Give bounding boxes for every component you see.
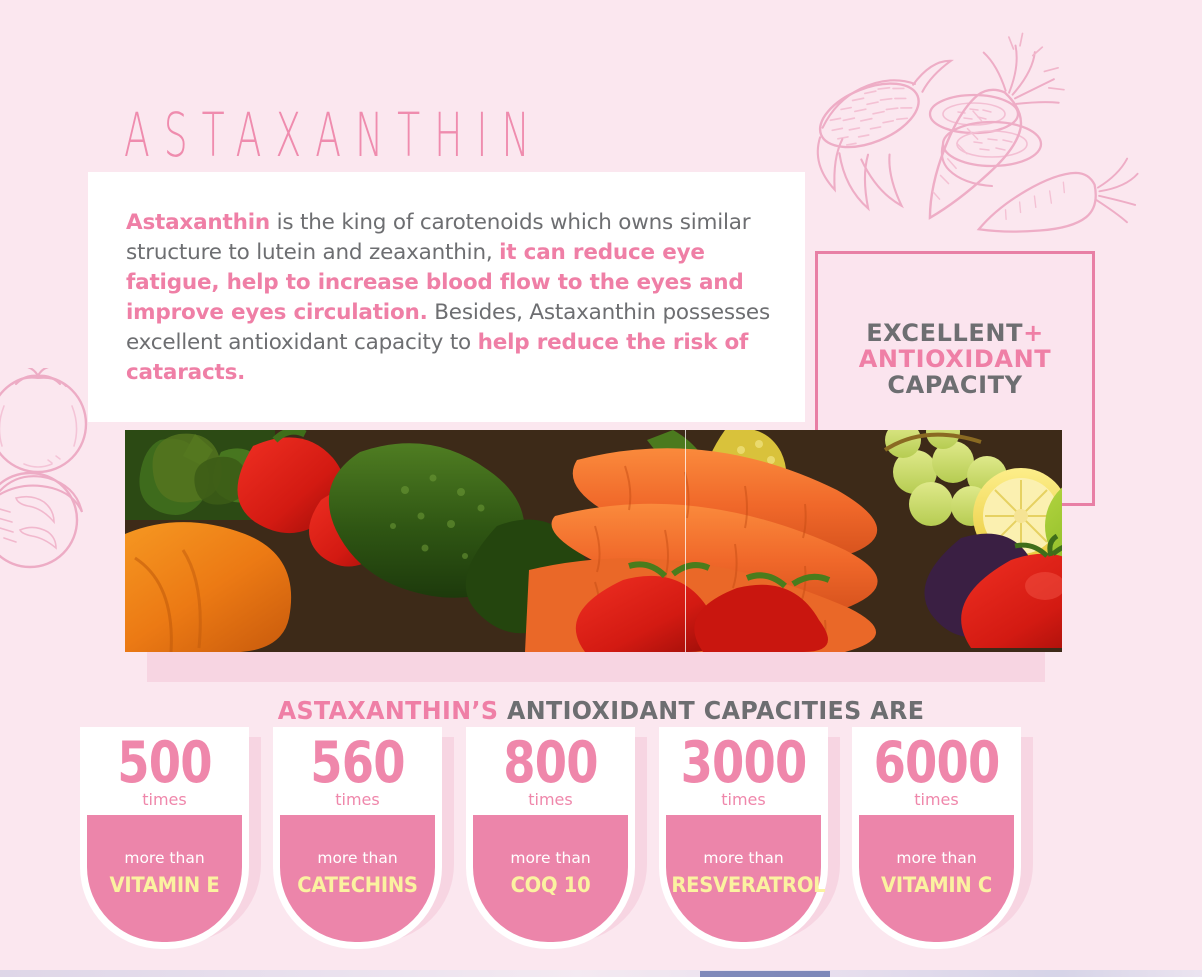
next-section-sliver-accent: [700, 971, 830, 977]
vegetables-photo: [125, 430, 1062, 652]
stat-card-label: RESVERATROL: [671, 873, 815, 897]
stat-card-top: 560 times: [273, 727, 442, 821]
corn-cucumber-carrot-line-art-icon: [778, 0, 1202, 282]
vegetables-photo-artwork: [125, 430, 1062, 652]
stat-card[interactable]: 800 times more than COQ 10: [466, 727, 635, 949]
infographic-page: Astaxanthin is the king of carotenoids w…: [0, 0, 1202, 977]
stat-card-number: 800: [478, 725, 623, 796]
stat-card[interactable]: 6000 times more than VITAMIN C: [852, 727, 1021, 949]
section-heading-pink: ASTAXANTHIN’S: [278, 696, 499, 725]
callout-capacity: CAPACITY: [818, 372, 1092, 398]
stat-card-number: 500: [92, 725, 237, 796]
stat-card[interactable]: 3000 times more than RESVERATROL: [659, 727, 828, 949]
stat-card-top: 500 times: [80, 727, 249, 821]
next-section-sliver: [0, 970, 1202, 977]
stat-card-more-than: more than: [87, 849, 242, 867]
callout-antioxidant: ANTIOXIDANT: [818, 346, 1092, 372]
stat-card-top: 6000 times: [852, 727, 1021, 821]
callout-text: EXCELLENT+ ANTIOXIDANT CAPACITY: [818, 320, 1092, 398]
section-heading-gray: ANTIOXIDANT CAPACITIES ARE: [498, 696, 924, 725]
stat-card-more-than: more than: [666, 849, 821, 867]
stat-card-number: 560: [285, 725, 430, 796]
stat-card-top: 3000 times: [659, 727, 828, 821]
intro-paragraph: Astaxanthin is the king of carotenoids w…: [126, 208, 791, 388]
stat-card[interactable]: 560 times more than CATECHINS: [273, 727, 442, 949]
section-heading: ASTAXANTHIN’S ANTIOXIDANT CAPACITIES ARE: [30, 696, 1172, 725]
photo-shadow-bar: [147, 652, 1045, 682]
intro-text-card: Astaxanthin is the king of carotenoids w…: [88, 172, 805, 422]
callout-plus: +: [1023, 319, 1044, 347]
callout-excellent: EXCELLENT: [866, 319, 1023, 347]
stat-card-label: VITAMIN C: [864, 873, 1008, 897]
stat-card-number: 3000: [671, 725, 816, 796]
stat-card-label: COQ 10: [478, 873, 622, 897]
stat-card[interactable]: 500 times more than VITAMIN E: [80, 727, 249, 949]
stat-card-label: CATECHINS: [285, 873, 429, 897]
photo-frame-guide-line: [685, 430, 686, 652]
page-title: ASTAXANTHIN: [124, 99, 544, 170]
callout-line-1: EXCELLENT+: [818, 320, 1092, 346]
stat-card-top: 800 times: [466, 727, 635, 821]
stat-card-more-than: more than: [473, 849, 628, 867]
stat-card-label: VITAMIN E: [92, 873, 236, 897]
stat-card-more-than: more than: [859, 849, 1014, 867]
intro-keyword: Astaxanthin: [126, 210, 270, 235]
stat-card-list: 500 times more than VITAMIN E 560 times …: [80, 727, 1122, 949]
stat-card-more-than: more than: [280, 849, 435, 867]
stat-card-number: 6000: [864, 725, 1009, 796]
